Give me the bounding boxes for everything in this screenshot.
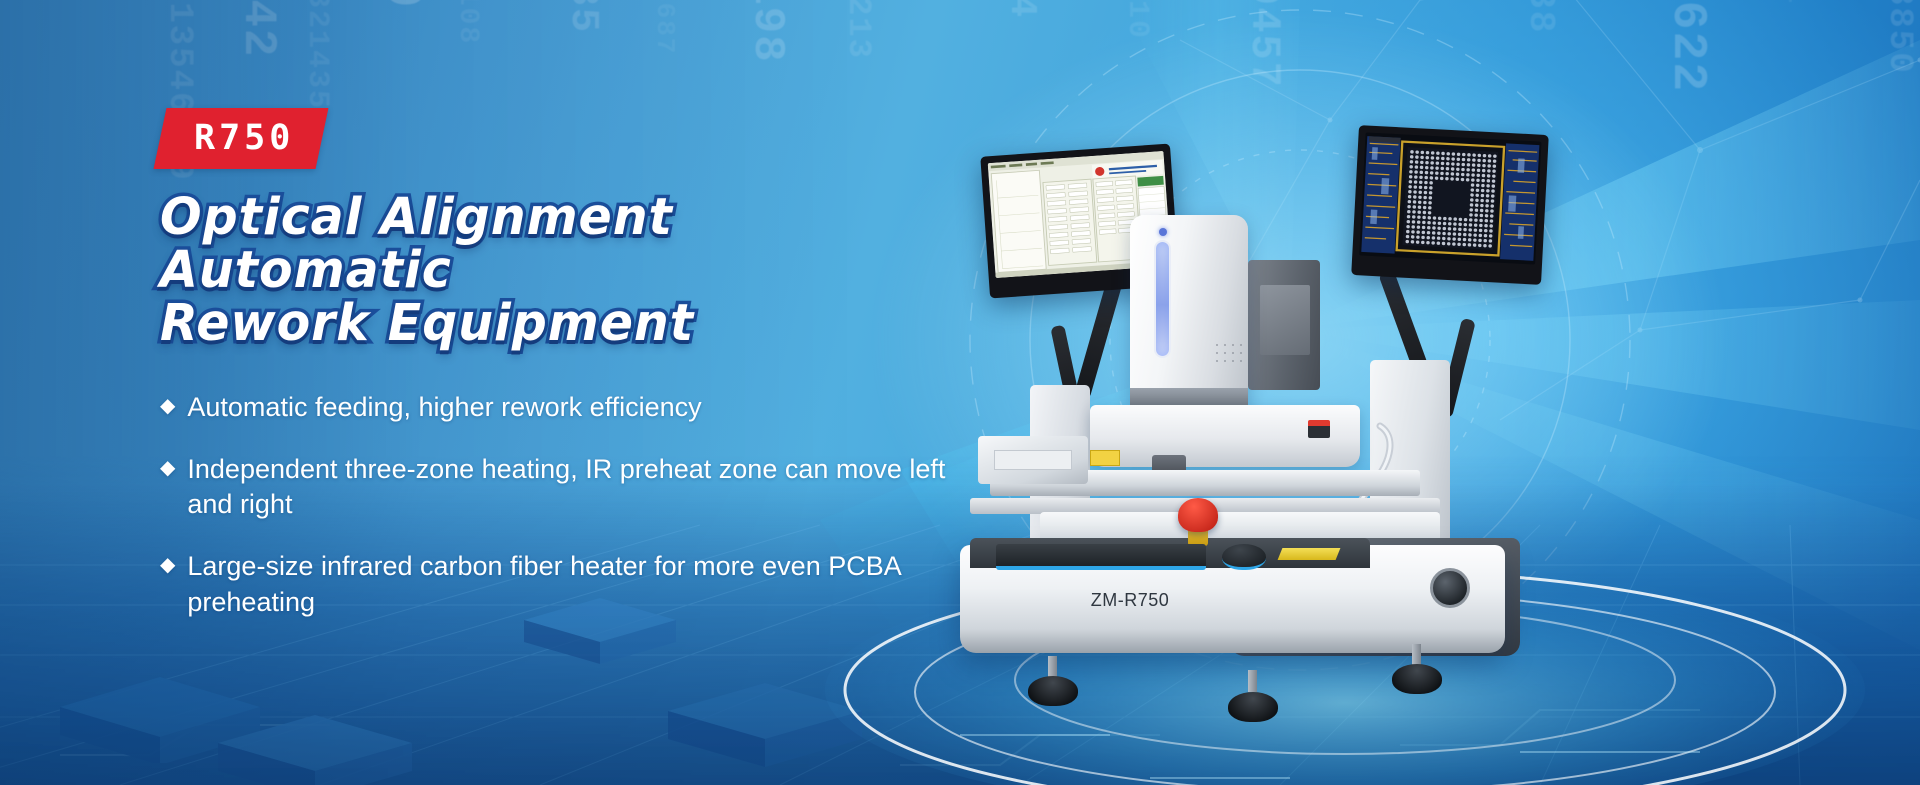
machine-foot-stem: [1412, 644, 1421, 666]
machine-temperature-controller: [1308, 420, 1330, 438]
monitor-arm-left: [1074, 280, 1122, 400]
product-photo: ZM-R750: [930, 120, 1890, 760]
background-digit-column: 321435: [300, 0, 334, 110]
product-model-plate: ZM-R750: [1040, 590, 1220, 611]
machine-side-module-panel: [1260, 285, 1310, 355]
machine-feeder-label: [994, 450, 1072, 470]
machine-control-knob[interactable]: [1430, 568, 1470, 608]
page-title: Optical Alignment Automatic Rework Equip…: [160, 191, 947, 350]
list-item: ◆ Large-size infrared carbon fiber heate…: [160, 549, 950, 620]
keyboard[interactable]: [996, 544, 1206, 570]
background-digit-column: 0142: [232, 0, 284, 58]
background-digit-column: 6108: [452, 0, 483, 45]
machine-vent-holes: [1214, 342, 1246, 366]
list-item-label: Independent three-zone heating, IR prehe…: [187, 452, 950, 523]
machine-foot: [1228, 692, 1278, 722]
background-digit-column: 2135: [560, 0, 605, 34]
diamond-bullet-icon: ◆: [160, 390, 175, 422]
background-digit-column: 8764: [1000, 0, 1043, 19]
emergency-stop-button[interactable]: [1178, 498, 1218, 532]
machine-foot: [1392, 664, 1442, 694]
background-digit-column: 789: [372, 0, 431, 10]
background-digit-column: 0198: [742, 0, 792, 64]
machine-foot: [1028, 676, 1078, 706]
product-banner: 2135468790142321435789610821354687019852…: [0, 0, 1920, 785]
model-badge-label: R750: [194, 121, 294, 156]
background-digit-column: 5213: [840, 0, 877, 60]
machine-foot-stem: [1248, 670, 1257, 692]
background-digit-column: 1038: [1520, 0, 1561, 34]
list-item-label: Large-size infrared carbon fiber heater …: [187, 549, 950, 620]
machine-top-heater-column: [1130, 215, 1248, 415]
banner-content: R750 Optical Alignment Automatic Rework …: [160, 108, 980, 646]
machine-yellow-accent-strip: [1278, 548, 1341, 560]
list-item: ◆ Independent three-zone heating, IR pre…: [160, 452, 950, 523]
decorative-chip-cube: [200, 683, 430, 785]
mouse[interactable]: [1222, 544, 1266, 570]
background-digit-column: 4471: [1780, 0, 1811, 5]
warning-label-icon: [1090, 450, 1120, 466]
diamond-bullet-icon: ◆: [160, 452, 175, 484]
background-digit-column: 3210: [1120, 0, 1154, 40]
diamond-bullet-icon: ◆: [160, 549, 175, 581]
background-digit-column: 9457: [1240, 0, 1288, 89]
feature-list: ◆ Automatic feeding, higher rework effic…: [160, 390, 980, 620]
machine-indicator-strip: [1154, 240, 1171, 358]
monitor-right: [1351, 125, 1549, 285]
decorative-chip-cube: [40, 643, 280, 763]
background-digit-column: 8850: [1880, 0, 1918, 75]
machine-foot-stem: [1048, 656, 1057, 678]
monitor-right-screen: [1359, 132, 1541, 264]
list-item: ◆ Automatic feeding, higher rework effic…: [160, 390, 950, 426]
machine-status-led: [1159, 228, 1167, 236]
background-digit-column: 6622: [1660, 0, 1714, 93]
list-item-label: Automatic feeding, higher rework efficie…: [187, 390, 950, 426]
background-digit-column: 4687: [650, 0, 680, 55]
model-badge: R750: [154, 108, 329, 169]
